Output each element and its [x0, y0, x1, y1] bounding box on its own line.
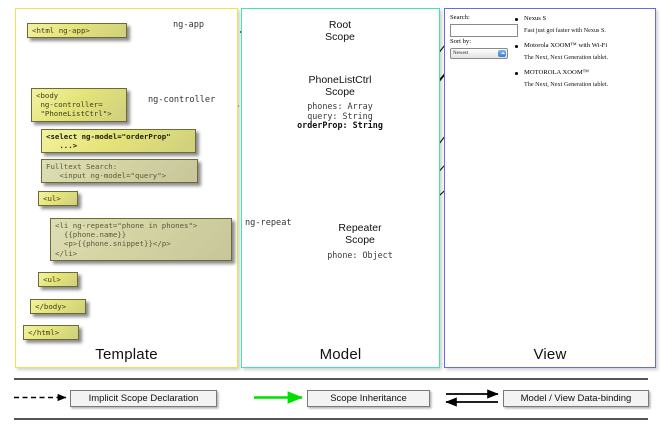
sort-by-label: Sort by:: [450, 38, 471, 45]
code-box-ul-open: <ul>: [38, 191, 78, 206]
phone-snippet: The Next, Next Generation tablet.: [524, 80, 650, 89]
code-box-body-close: </body>: [30, 299, 86, 314]
phone-snippet: Fast just got faster with Nexus S.: [524, 26, 650, 35]
content-layer: Template Model View <html ng-app> <body …: [0, 0, 661, 425]
edge-label-ng-app: ng-app: [173, 20, 204, 30]
code-box-body: <body ng-controller= "PhoneListCtrl">: [31, 88, 127, 122]
sort-by-selected-value: Newest: [453, 51, 468, 56]
code-box-html-close: </html>: [23, 325, 79, 340]
legend-item-model-view-data-binding: Model / View Data-binding: [503, 390, 649, 407]
code-box-select: <select ng-model="orderProp" ...>: [41, 129, 196, 153]
list-item[interactable]: Nexus S Fast just got faster with Nexus …: [515, 14, 650, 35]
chevron-down-icon: [498, 50, 506, 57]
code-box-ul-close: <ul>: [38, 272, 78, 287]
code-box-html: <html ng-app>: [27, 23, 127, 38]
sort-by-select[interactable]: Newest: [450, 48, 508, 59]
view-browser-mock: Search: Sort by: Newest Nexus S Fast jus…: [450, 14, 650, 124]
code-box-fulltext-search: Fulltext Search: <input ng-model="query"…: [41, 159, 198, 183]
phone-name: Motorola XOOM™ with Wi-Fi: [524, 41, 650, 50]
list-item[interactable]: MOTOROLA XOOM™ The Next, Next Generation…: [515, 68, 650, 89]
panel-label-model: Model: [242, 346, 439, 363]
legend-item-implicit-scope-declaration: Implicit Scope Declaration: [70, 390, 217, 407]
bullet-icon: [515, 45, 518, 48]
panel-label-template: Template: [16, 346, 237, 363]
phone-name: Nexus S: [524, 14, 650, 23]
legend-item-scope-inheritance: Scope Inheritance: [307, 390, 430, 407]
search-input[interactable]: [450, 24, 518, 37]
bullet-icon: [515, 72, 518, 75]
search-label: Search:: [450, 14, 470, 21]
panel-label-view: View: [445, 346, 655, 363]
bullet-icon: [515, 18, 518, 21]
list-item[interactable]: Motorola XOOM™ with Wi-Fi The Next, Next…: [515, 41, 650, 62]
panel-model: Model: [241, 8, 440, 368]
code-box-li-repeat: <li ng-repeat="phone in phones"> {{phone…: [50, 218, 232, 261]
phone-list: Nexus S Fast just got faster with Nexus …: [515, 14, 650, 93]
edge-label-ng-repeat: ng-repeat: [245, 218, 292, 228]
diagram-canvas: Template Model View <html ng-app> <body …: [0, 0, 661, 425]
edge-label-ng-controller: ng-controller: [148, 95, 215, 105]
phone-name: MOTOROLA XOOM™: [524, 68, 650, 77]
phone-snippet: The Next, Next Generation tablet.: [524, 53, 650, 62]
legend: Implicit Scope Declaration Scope Inherit…: [14, 378, 648, 420]
